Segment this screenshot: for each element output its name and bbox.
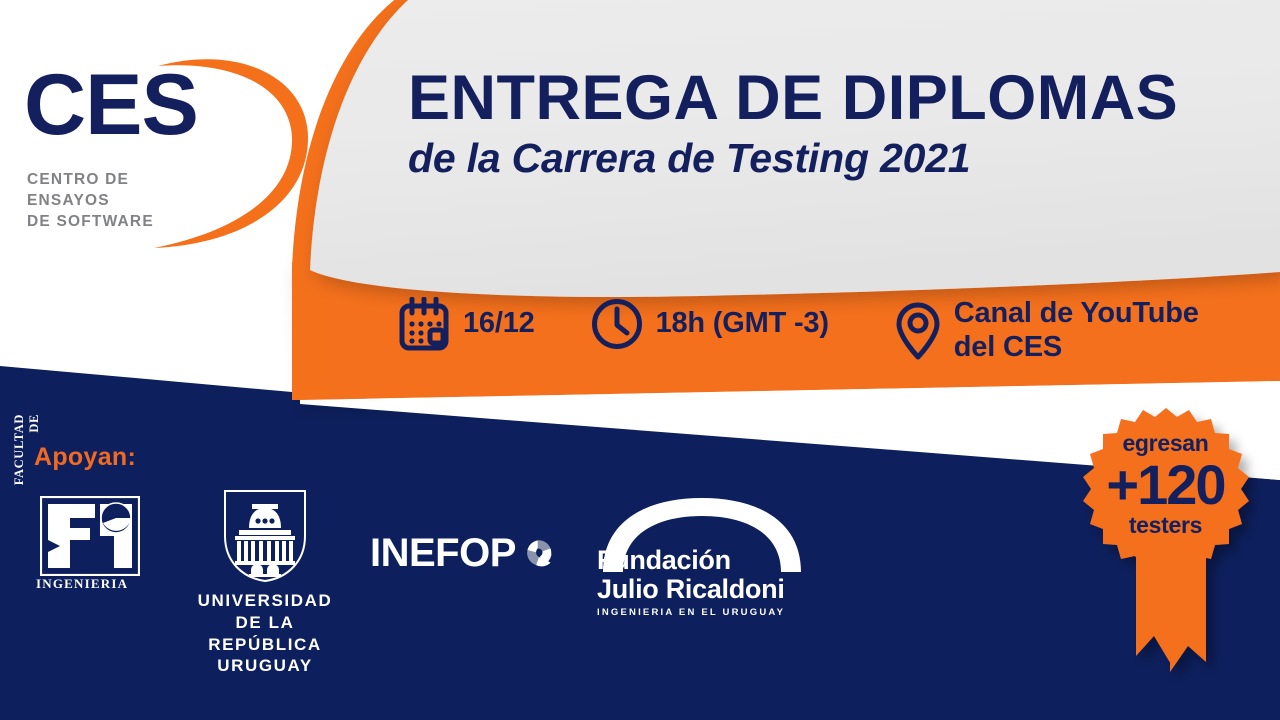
info-date-text: 16/12 [463, 307, 535, 341]
ces-tagline-line2: DE SOFTWARE [27, 212, 212, 233]
page-title: ENTREGA DE DIPLOMAS [408, 66, 1268, 132]
fjr-line1: Fundación [597, 546, 785, 575]
udelar-line2: DE LA REPÚBLICA [185, 612, 345, 656]
info-location-line2: del CES [954, 331, 1199, 365]
sponsors-label: Apoyan: [34, 443, 136, 472]
info-location-text: Canal de YouTube del CES [954, 297, 1199, 364]
sponsor-logo-facultad-de-ingenieria: FACULTAD DE INGENIERIA [12, 496, 147, 596]
sponsor-logo-universidad-de-la-republica: UNIVERSIDAD DE LA REPÚBLICA URUGUAY [185, 488, 345, 633]
rosette-icon [1078, 404, 1278, 694]
location-pin-icon [895, 301, 941, 361]
sponsor-logo-inefop: INEFOP [370, 523, 555, 583]
fing-mark-icon [40, 496, 140, 576]
poster-canvas: CES CENTRO DE ENSAYOS DE SOFTWARE ENTREG… [0, 0, 1280, 720]
clock-icon [591, 297, 643, 351]
udelar-line3: URUGUAY [185, 655, 345, 677]
ces-tagline: CENTRO DE ENSAYOS DE SOFTWARE [27, 170, 212, 233]
status-badge-egresados: egresan +120 testers [1078, 404, 1278, 694]
sponsors-row: FACULTAD DE INGENIERIA [0, 488, 880, 668]
inefop-wordmark: INEFOP [370, 533, 516, 573]
ces-tagline-line1: CENTRO DE ENSAYOS [27, 170, 212, 212]
udelar-text: UNIVERSIDAD DE LA REPÚBLICA URUGUAY [185, 590, 345, 677]
info-item-time: 18h (GMT -3) [591, 297, 829, 351]
udelar-line1: UNIVERSIDAD [185, 590, 345, 612]
udelar-shield-icon [221, 488, 309, 584]
info-item-date: 16/12 [398, 297, 535, 351]
sponsor-logo-fundacion-julio-ricaldoni: Fundación Julio Ricaldoni INGENIERIA EN … [595, 498, 810, 618]
ces-logo: CES CENTRO DE ENSAYOS DE SOFTWARE [24, 62, 314, 237]
ces-acronym: CES [24, 62, 198, 148]
fing-bottom-text: INGENIERIA [36, 576, 128, 592]
fjr-line2: Julio Ricaldoni [597, 575, 785, 604]
info-item-location: Canal de YouTube del CES [895, 297, 1199, 364]
info-time-text: 18h (GMT -3) [656, 307, 829, 341]
page-subtitle: de la Carrera de Testing 2021 [408, 136, 1268, 181]
info-location-line1: Canal de YouTube [954, 297, 1199, 331]
calendar-icon [398, 297, 450, 351]
event-info-bar: 16/12 18h (GMT -3) Canal de YouTube del … [398, 297, 1199, 364]
fjr-line3: INGENIERIA EN EL URUGUAY [597, 607, 785, 618]
title-block: ENTREGA DE DIPLOMAS de la Carrera de Tes… [408, 66, 1268, 181]
fing-vertical-text: FACULTAD DE [12, 414, 26, 502]
inefop-pinwheel-icon [524, 527, 555, 579]
